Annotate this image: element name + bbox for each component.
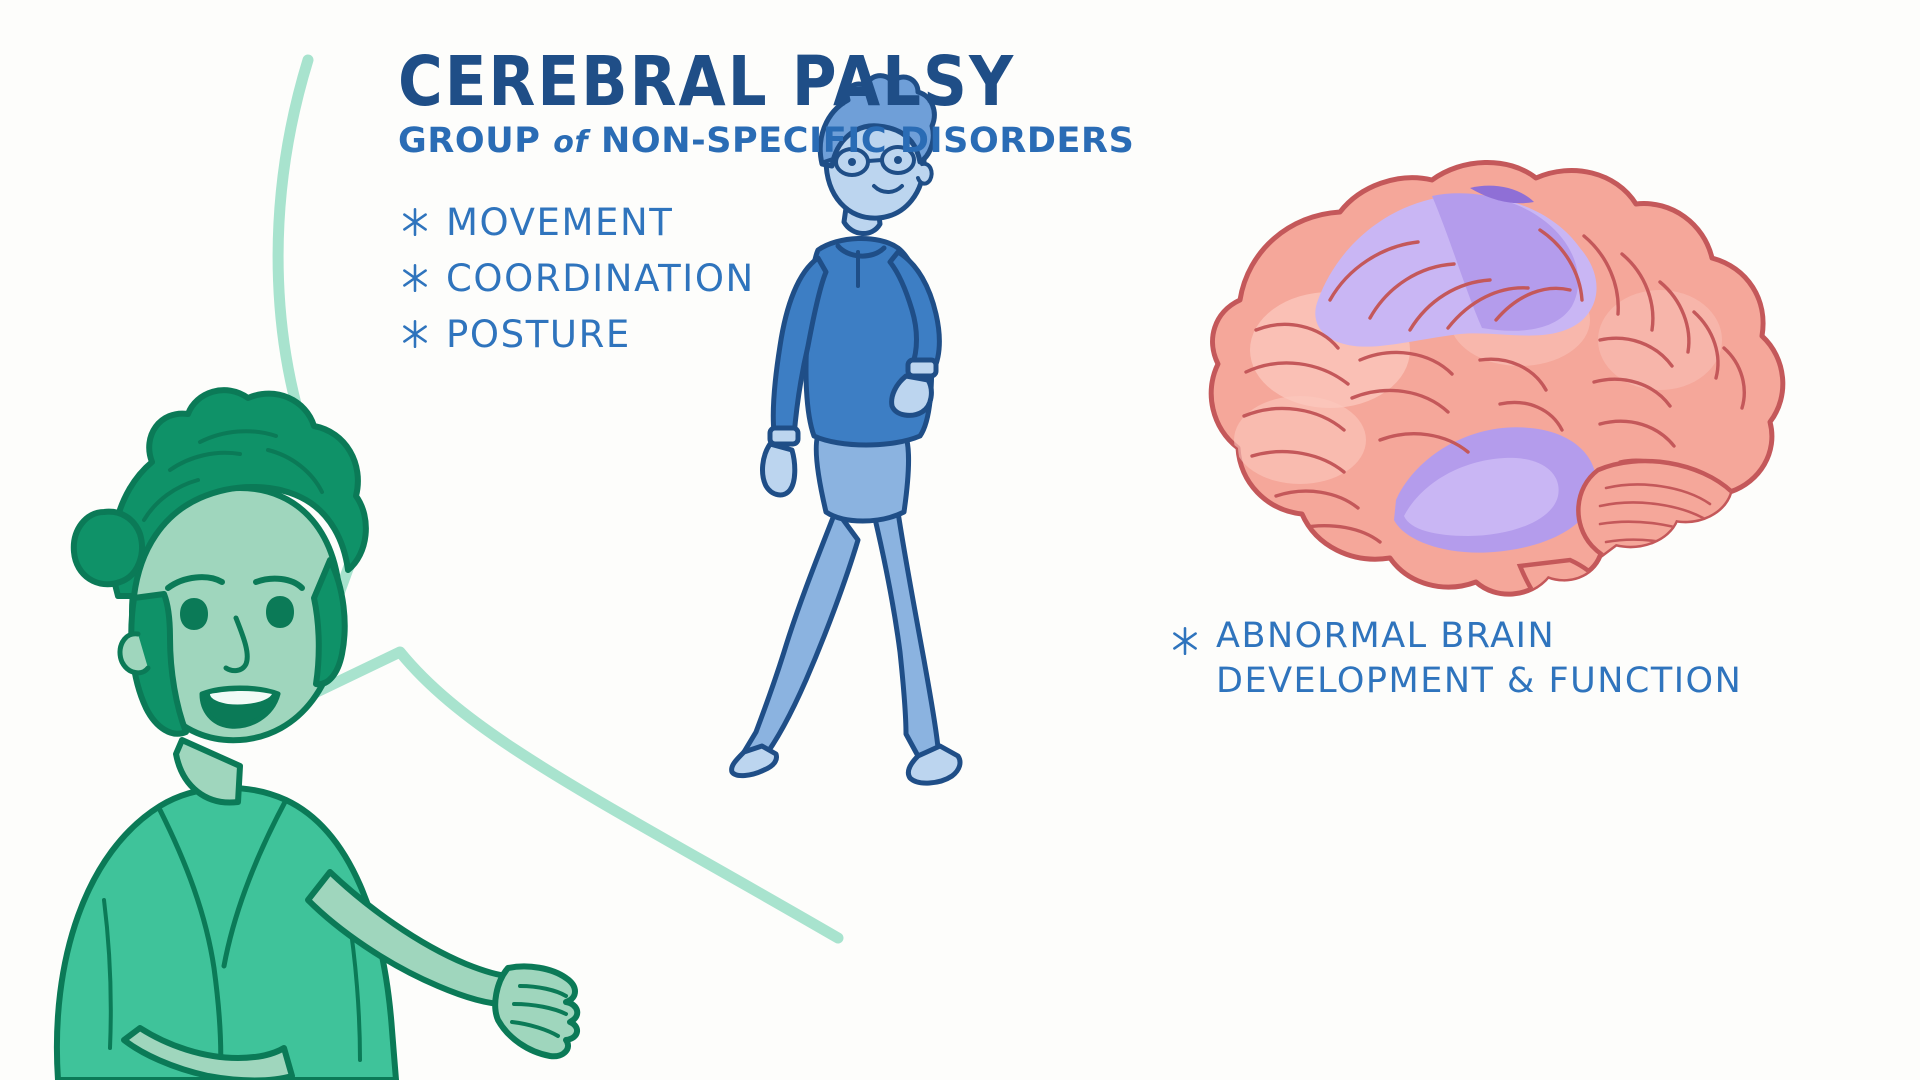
illustration-canvas: CEREBRAL PALSY GROUP of NON-SPECIFIC DIS… (0, 0, 1920, 1080)
list-item-label: MOVEMENT (446, 201, 673, 244)
brain-caption: ABNORMAL BRAIN DEVELOPMENT & FUNCTION (1168, 614, 1742, 704)
brain-caption-line-1: ABNORMAL BRAIN (1216, 614, 1742, 659)
subtitle-of: of (553, 125, 588, 160)
brain-caption-line-2: DEVELOPMENT & FUNCTION (1216, 659, 1742, 704)
asterisk-star-icon (398, 317, 432, 351)
subtitle-pre: GROUP (398, 121, 553, 161)
asterisk-star-icon (398, 261, 432, 295)
list-item: POSTURE (398, 311, 1134, 357)
subtitle-post: NON-SPECIFIC DISORDERS (588, 121, 1134, 161)
list-item-label: POSTURE (446, 313, 631, 356)
asterisk-star-icon (1168, 624, 1202, 658)
page-subtitle: GROUP of NON-SPECIFIC DISORDERS (398, 121, 1134, 161)
list-item-label: COORDINATION (446, 257, 755, 300)
asterisk-star-icon (398, 205, 432, 239)
symptom-list: MOVEMENT COORDINATION POSTURE (398, 199, 1134, 357)
text-block: CEREBRAL PALSY GROUP of NON-SPECIFIC DIS… (398, 48, 1134, 367)
list-item: COORDINATION (398, 255, 1134, 301)
page-title: CEREBRAL PALSY (398, 48, 1134, 116)
list-item: MOVEMENT (398, 199, 1134, 245)
